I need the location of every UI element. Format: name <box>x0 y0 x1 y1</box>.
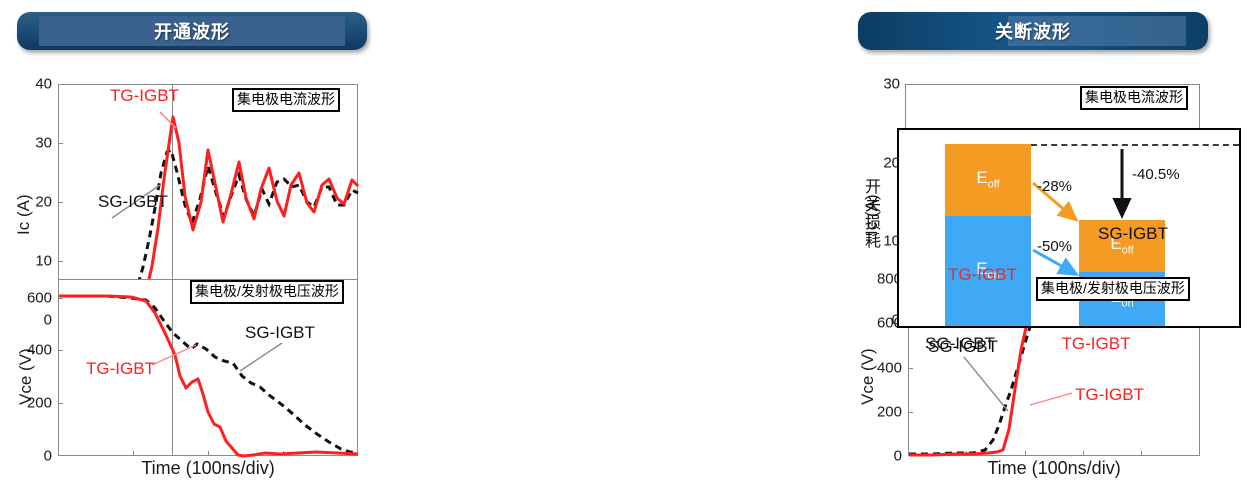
panel-switching-loss-reduction: 降低开关损耗的效果 开关损耗 Eoff Eon Eoff Eon <box>840 0 1251 483</box>
x-axis-title: Time (100ns/div) <box>58 458 358 479</box>
banner-turn-on-label: 开通波形 <box>154 18 230 44</box>
label-eon-delta: -50% <box>1037 238 1072 255</box>
y-axis-title-switching-loss: 开关损耗 <box>862 178 878 250</box>
label-sg-igbt: SG-IGBT <box>1098 224 1168 244</box>
leader-lines <box>0 275 420 483</box>
label-tg-igbt: TG-IGBT <box>948 265 1017 285</box>
banner-turn-on: 开通波形 <box>17 12 367 50</box>
annotation-current-waveform: 集电极电流波形 <box>232 88 340 112</box>
label-sg-igbt: SG-IGBT <box>928 337 998 357</box>
panel-turn-off-waveform: 关断波形 Ic (A) 30 20 10 0 SG-IGBT TG-IGBT <box>420 0 840 483</box>
annotation-voltage-waveform: 集电极/发射极电压波形 <box>190 280 344 304</box>
label-tg-igbt: TG-IGBT <box>110 86 179 106</box>
label-total-delta: -40.5% <box>1132 166 1180 183</box>
category-label-tg-igbt: TG-IGBT <box>1036 334 1156 354</box>
chart-turn-on-collector-current: Ic (A) 40 30 20 10 0 TG-IGBT SG-IGBT 集 <box>0 70 420 265</box>
banner-turn-off-label: 关断波形 <box>995 18 1071 44</box>
label-eoff-delta: -28% <box>1037 178 1072 195</box>
label-tg-igbt: TG-IGBT <box>86 359 155 379</box>
label-tg-igbt: TG-IGBT <box>1075 385 1144 405</box>
annotation-voltage-waveform: 集电极/发射极电压波形 <box>1036 277 1190 301</box>
annotation-current-waveform: 集电极电流波形 <box>1080 86 1188 110</box>
panel-turn-on-waveform: 开通波形 Ic (A) 40 30 20 10 0 TG-IGBT <box>0 0 420 483</box>
label-sg-igbt: SG-IGBT <box>245 323 315 343</box>
label-sg-igbt: SG-IGBT <box>98 192 168 212</box>
chart-turn-on-collector-emitter-voltage: Vce (V) 600 400 200 0 TG-IGBT SG-IGBT 集电… <box>0 275 420 483</box>
